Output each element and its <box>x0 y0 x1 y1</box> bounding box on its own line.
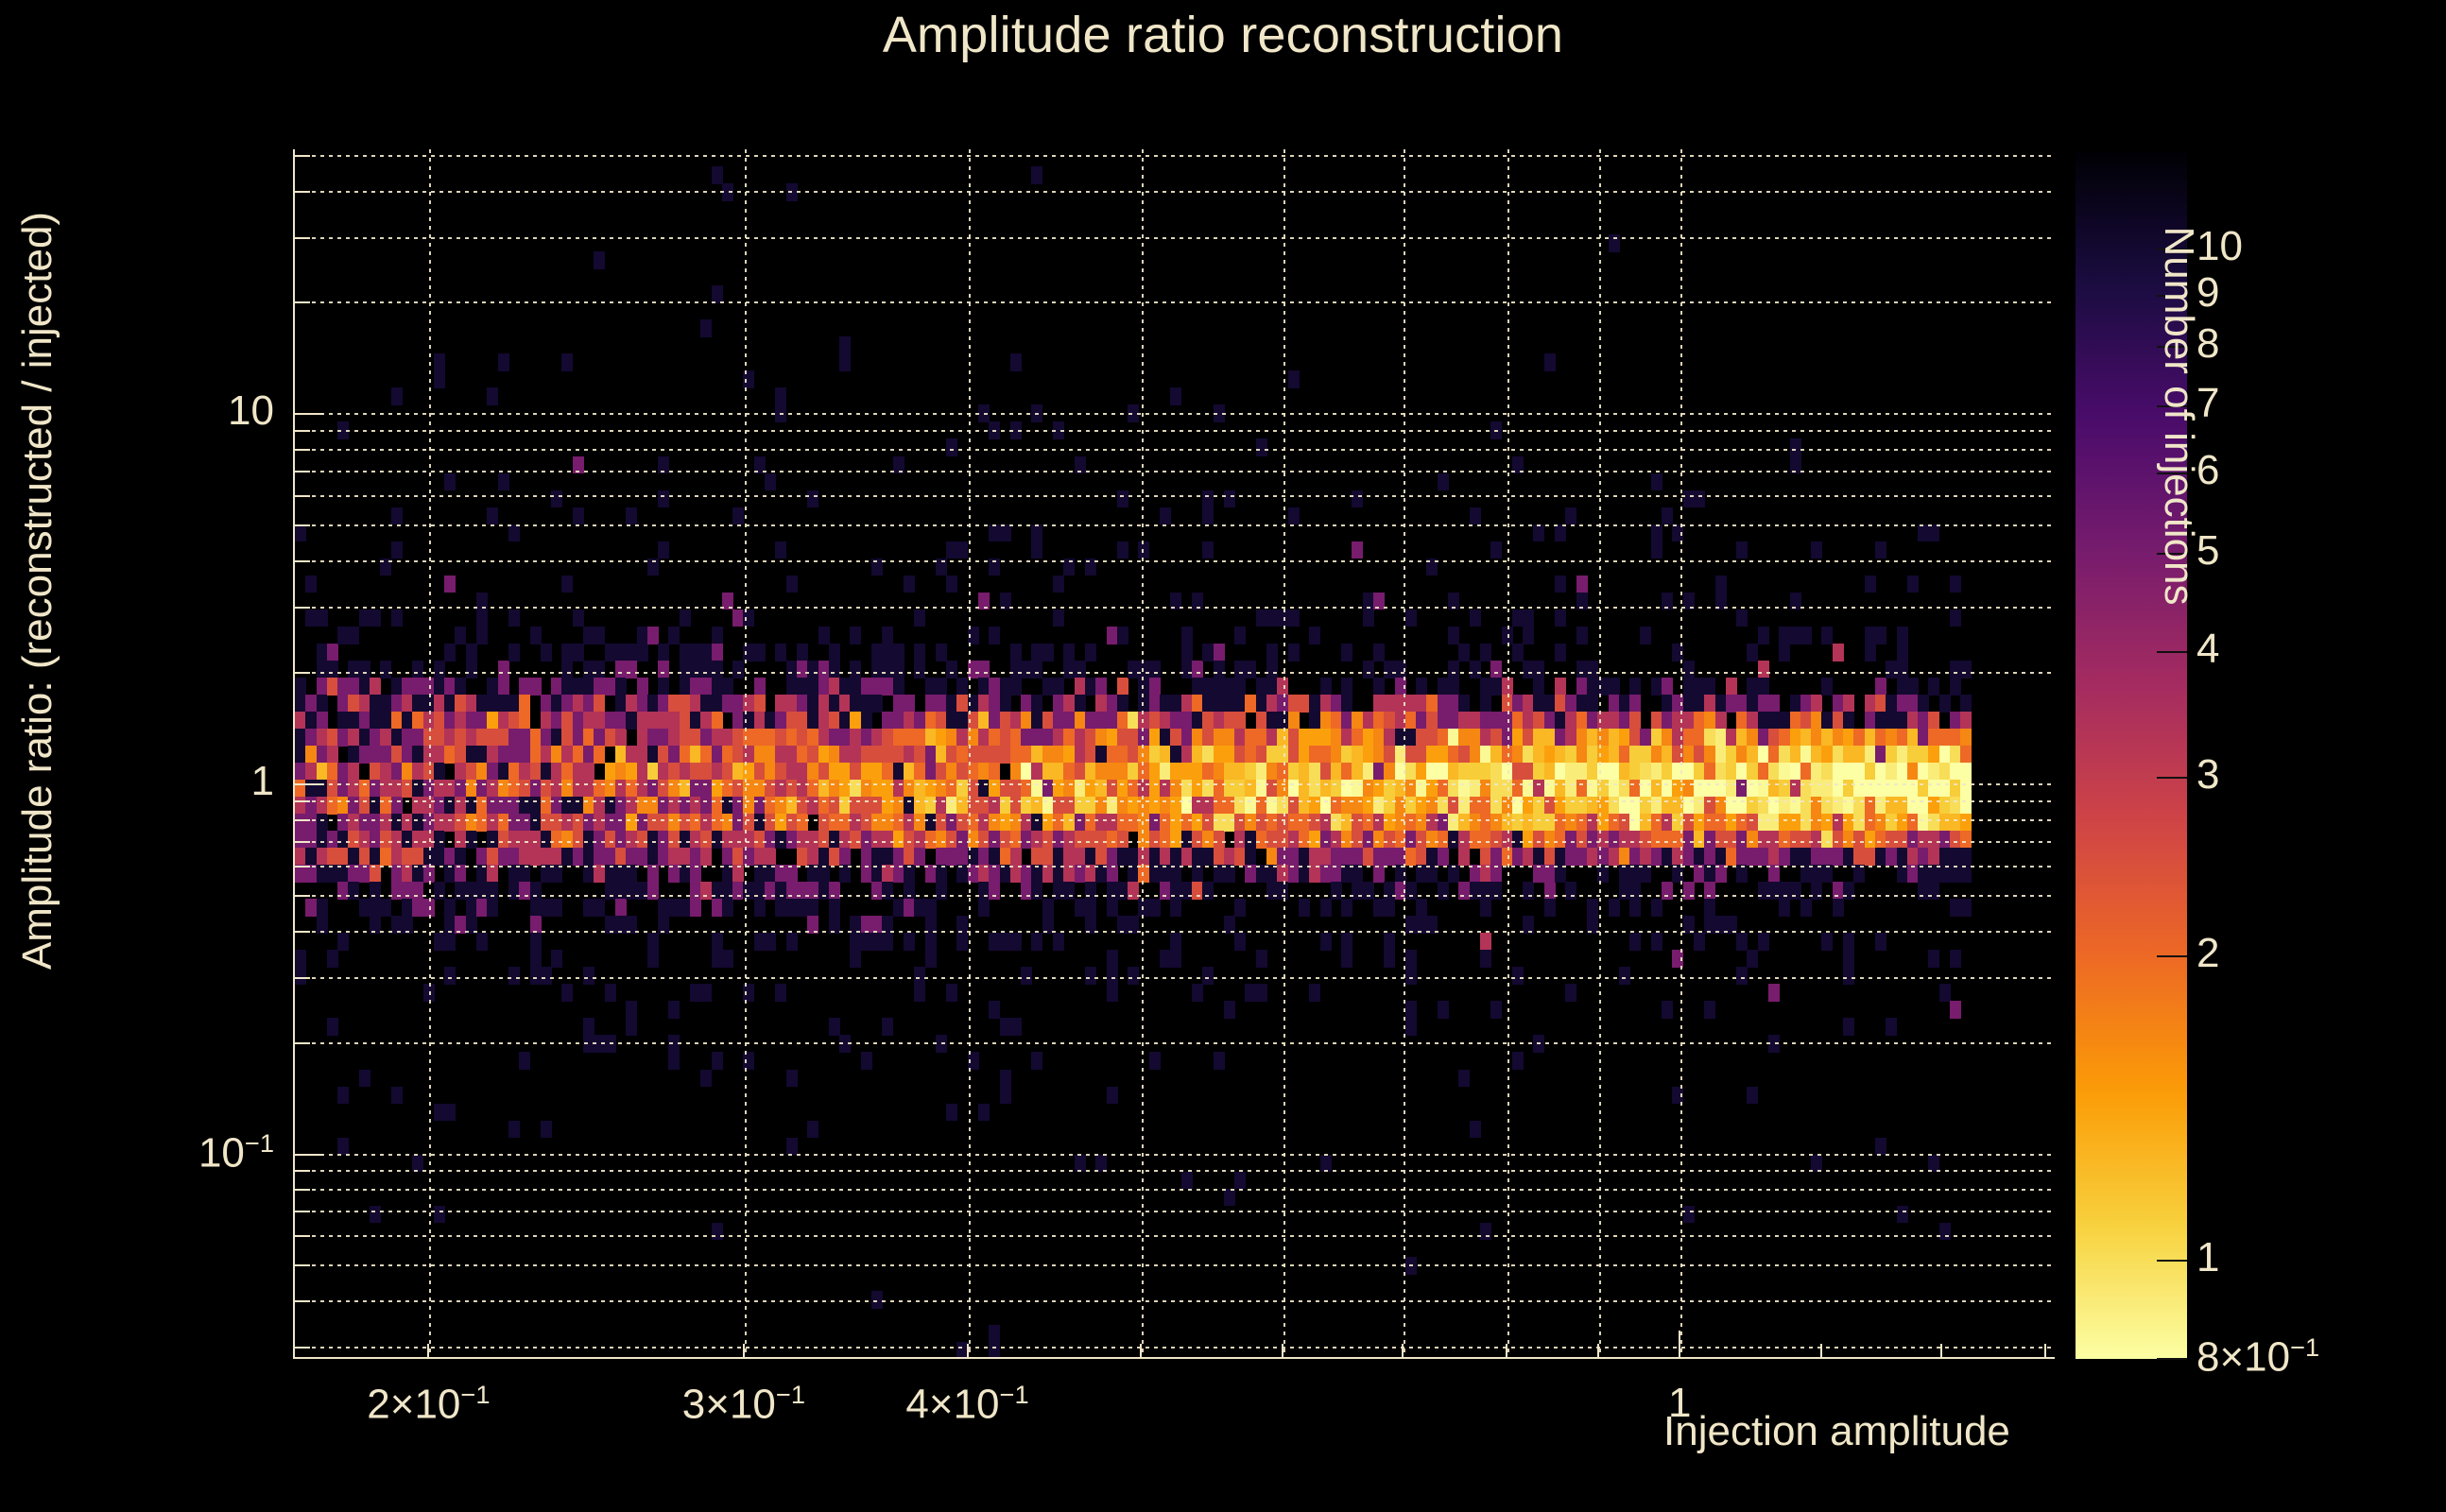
heatmap-cell <box>637 627 648 644</box>
heatmap-cell <box>712 950 723 968</box>
heatmap-cell <box>561 678 573 696</box>
heatmap-cell <box>1544 780 1556 798</box>
heatmap-cell <box>1000 1070 1011 1088</box>
heatmap-cell <box>1192 814 1203 832</box>
heatmap-cell <box>476 780 488 798</box>
heatmap-cell <box>455 678 466 696</box>
heatmap-cell <box>1629 831 1641 849</box>
heatmap-cell <box>615 695 627 713</box>
heatmap-cell <box>647 729 659 747</box>
heatmap-cell <box>690 814 701 832</box>
heatmap-cell <box>380 695 391 713</box>
gridline-vertical <box>1404 149 1405 1359</box>
heatmap-cell <box>775 695 786 713</box>
heatmap-cell <box>914 763 925 781</box>
heatmap-cell <box>1224 814 1235 832</box>
heatmap-cell <box>1587 763 1598 781</box>
heatmap-cell <box>1587 899 1598 917</box>
heatmap-cell <box>1704 712 1715 730</box>
heatmap-cell <box>487 746 498 764</box>
heatmap-cell <box>391 541 403 559</box>
heatmap-cell <box>327 678 338 696</box>
heatmap-cell <box>615 882 627 900</box>
heatmap-cell <box>541 780 552 798</box>
heatmap-cell <box>1907 848 1919 866</box>
heatmap-cell <box>1331 831 1342 849</box>
heatmap-cell <box>1299 763 1310 781</box>
heatmap-cell <box>391 831 403 849</box>
heatmap-cell <box>850 763 861 781</box>
heatmap-cell <box>1715 576 1727 593</box>
heatmap-cell <box>1202 848 1214 866</box>
heatmap-cell <box>1234 814 1246 832</box>
heatmap-cell <box>541 729 552 747</box>
heatmap-cell <box>551 865 562 883</box>
heatmap-cell <box>348 780 359 798</box>
heatmap-cell <box>1202 763 1214 781</box>
heatmap-cell <box>1833 763 1844 781</box>
heatmap-cell <box>1939 984 1951 1002</box>
heatmap-cell <box>1363 661 1374 679</box>
heatmap-cell <box>1299 746 1310 764</box>
heatmap-cell <box>861 865 872 883</box>
heatmap-cell <box>391 729 403 747</box>
heatmap-cell <box>1865 797 1876 815</box>
heatmap-cell <box>797 814 808 832</box>
heatmap-cell <box>1214 695 1225 713</box>
heatmap-cell <box>1800 797 1812 815</box>
heatmap-cell <box>1609 678 1620 696</box>
heatmap-cell <box>1490 831 1502 849</box>
heatmap-cell <box>1063 814 1075 832</box>
heatmap-cell <box>658 661 669 679</box>
heatmap-cell <box>1095 814 1107 832</box>
heatmap-cell <box>700 729 712 747</box>
heatmap-cell <box>722 899 733 917</box>
x-axis-tick <box>1597 1344 1599 1359</box>
heatmap-cell <box>1694 746 1705 764</box>
heatmap-cell <box>946 1104 957 1122</box>
heatmap-cell <box>1576 831 1588 849</box>
heatmap-cell <box>1214 797 1225 815</box>
heatmap-cell <box>1192 882 1203 900</box>
heatmap-cell <box>680 780 691 798</box>
heatmap-cell <box>956 814 968 832</box>
heatmap-cell <box>1853 746 1865 764</box>
heatmap-cell <box>956 780 968 798</box>
heatmap-cell <box>1309 712 1320 730</box>
heatmap-cell <box>1587 848 1598 866</box>
heatmap-cell <box>1426 712 1438 730</box>
heatmap-cell <box>1490 712 1502 730</box>
heatmap-cell <box>732 848 744 866</box>
heatmap-cell <box>1416 831 1427 849</box>
heatmap-cell <box>1095 695 1107 713</box>
heatmap-cell <box>1555 610 1566 627</box>
heatmap-cell <box>317 763 328 781</box>
heatmap-cell <box>637 729 648 747</box>
heatmap-cell <box>1821 865 1833 883</box>
heatmap-cell <box>1939 1223 1951 1241</box>
x-tick-label: 4×10−1 <box>826 1380 1110 1429</box>
heatmap-cell <box>871 831 883 849</box>
heatmap-cell <box>1107 797 1118 815</box>
heatmap-cell <box>1170 933 1181 951</box>
heatmap-cell <box>680 899 691 917</box>
heatmap-cell <box>1341 678 1352 696</box>
heatmap-cell <box>882 729 893 747</box>
heatmap-cell <box>1448 763 1459 781</box>
heatmap-cell <box>1021 695 1032 713</box>
heatmap-cell <box>317 814 328 832</box>
heatmap-cell <box>1341 814 1352 832</box>
heatmap-cell <box>946 780 957 798</box>
heatmap-cell <box>1555 831 1566 849</box>
heatmap-cell <box>1202 678 1214 696</box>
heatmap-cell <box>1833 644 1844 661</box>
heatmap-cell <box>1352 814 1363 832</box>
heatmap-cell <box>1299 865 1310 883</box>
heatmap-cell <box>861 797 872 815</box>
heatmap-cell <box>1651 814 1662 832</box>
heatmap-cell <box>1758 763 1769 781</box>
heatmap-cell <box>541 865 552 883</box>
heatmap-cell <box>402 712 413 730</box>
heatmap-cell <box>1853 780 1865 798</box>
heatmap-cell <box>1021 746 1032 764</box>
heatmap-cell <box>925 797 937 815</box>
heatmap-cell <box>1704 882 1715 900</box>
heatmap-cell <box>1960 712 1972 730</box>
heatmap-cell <box>551 746 562 764</box>
heatmap-cell <box>1811 831 1822 849</box>
heatmap-cell <box>1075 814 1086 832</box>
heatmap-cell <box>498 831 509 849</box>
heatmap-cell <box>1384 712 1395 730</box>
heatmap-cell <box>1683 780 1695 798</box>
y-axis-tick <box>293 524 310 526</box>
heatmap-cell <box>412 882 423 900</box>
heatmap-cell <box>391 746 403 764</box>
heatmap-cell <box>615 763 627 781</box>
heatmap-cell <box>1214 678 1225 696</box>
heatmap-cell <box>1031 763 1042 781</box>
heatmap-cell <box>775 882 786 900</box>
heatmap-cell <box>498 780 509 798</box>
heatmap-cell <box>1266 644 1278 661</box>
heatmap-cell <box>1363 831 1374 849</box>
heatmap-cell <box>1405 729 1417 747</box>
heatmap-cell <box>1565 729 1576 747</box>
heatmap-cell <box>1214 865 1225 883</box>
heatmap-cell <box>1544 848 1556 866</box>
heatmap-cell <box>1149 695 1161 713</box>
heatmap-cell <box>626 797 637 815</box>
heatmap-cell <box>1224 729 1235 747</box>
heatmap-cell <box>1875 695 1886 713</box>
heatmap-cell <box>1107 814 1118 832</box>
heatmap-cell <box>626 644 637 661</box>
heatmap-cell <box>712 627 723 644</box>
heatmap-cell <box>1095 780 1107 798</box>
heatmap-cell <box>1694 797 1705 815</box>
heatmap-cell <box>1438 729 1449 747</box>
heatmap-cell <box>1555 695 1566 713</box>
heatmap-cell <box>712 712 723 730</box>
heatmap-cell <box>1865 576 1876 593</box>
heatmap-cell <box>1214 712 1225 730</box>
heatmap-cell <box>893 763 904 781</box>
heatmap-cell <box>700 1070 712 1088</box>
heatmap-cell <box>1438 695 1449 713</box>
heatmap-cell <box>871 933 883 951</box>
heatmap-cell <box>1266 729 1278 747</box>
heatmap-cell <box>1512 644 1524 661</box>
y-tick-label: 10 <box>57 387 274 435</box>
heatmap-cell <box>466 695 477 713</box>
heatmap-cell <box>1373 831 1385 849</box>
heatmap-cell <box>807 712 818 730</box>
heatmap-cell <box>1352 490 1363 508</box>
heatmap-cell <box>1875 848 1886 866</box>
heatmap-cell <box>1843 1018 1854 1036</box>
heatmap-cell <box>1010 1018 1022 1036</box>
heatmap-cell <box>1907 695 1919 713</box>
heatmap-cell <box>1918 524 1929 542</box>
heatmap-cell <box>1149 814 1161 832</box>
heatmap-cell <box>1245 848 1256 866</box>
heatmap-cell <box>700 319 712 337</box>
heatmap-cell <box>1907 780 1919 798</box>
heatmap-cell <box>615 780 627 798</box>
heatmap-cell <box>1138 831 1149 849</box>
heatmap-cell <box>583 763 594 781</box>
heatmap-cell <box>1063 882 1075 900</box>
heatmap-cell <box>583 814 594 832</box>
heatmap-cell <box>605 712 616 730</box>
heatmap-cell <box>1031 814 1042 832</box>
heatmap-cell <box>1651 678 1662 696</box>
heatmap-cell <box>893 712 904 730</box>
heatmap-cell <box>573 814 584 832</box>
heatmap-cell <box>700 712 712 730</box>
heatmap-cell <box>1960 746 1972 764</box>
heatmap-cell <box>487 763 498 781</box>
heatmap-cell <box>391 507 403 525</box>
heatmap-cell <box>946 695 957 713</box>
heatmap-cell <box>1736 695 1748 713</box>
heatmap-cell <box>1555 746 1566 764</box>
heatmap-cell <box>1363 729 1374 747</box>
heatmap-cell <box>337 797 349 815</box>
heatmap-cell <box>722 831 733 849</box>
heatmap-cell <box>1587 712 1598 730</box>
heatmap-cell <box>317 831 328 849</box>
heatmap-cell <box>690 661 701 679</box>
heatmap-cell <box>786 780 798 798</box>
gridline-vertical <box>745 149 747 1359</box>
heatmap-cell <box>1865 627 1876 644</box>
heatmap-cell <box>1214 1052 1225 1070</box>
heatmap-cell <box>1341 712 1352 730</box>
heatmap-cell <box>1480 831 1491 849</box>
heatmap-cell <box>337 695 349 713</box>
heatmap-cell <box>893 899 904 917</box>
heatmap-cell <box>732 814 744 832</box>
heatmap-cell <box>658 678 669 696</box>
heatmap-cell <box>1779 746 1790 764</box>
heatmap-cell <box>1565 848 1576 866</box>
heatmap-cell <box>690 797 701 815</box>
heatmap-cell <box>1523 627 1534 644</box>
heatmap-cell <box>786 814 798 832</box>
heatmap-cell <box>925 933 937 951</box>
heatmap-cell <box>1384 831 1395 849</box>
heatmap-cell <box>1555 763 1566 781</box>
heatmap-cell <box>1886 848 1897 866</box>
heatmap-cell <box>1416 763 1427 781</box>
heatmap-cell <box>1704 678 1715 696</box>
heatmap-cell <box>1758 848 1769 866</box>
heatmap-cell <box>1565 507 1576 525</box>
heatmap-cell <box>839 353 851 371</box>
heatmap-cell <box>1309 746 1320 764</box>
heatmap-cell <box>732 797 744 815</box>
heatmap-cell <box>1555 797 1566 815</box>
heatmap-cell <box>337 780 349 798</box>
heatmap-cell <box>1640 763 1651 781</box>
heatmap-cell <box>893 729 904 747</box>
heatmap-cell <box>615 899 627 917</box>
heatmap-cell <box>1662 763 1673 781</box>
heatmap-cell <box>1138 729 1149 747</box>
heatmap-cell <box>455 831 466 849</box>
heatmap-cell <box>615 746 627 764</box>
heatmap-cell <box>797 848 808 866</box>
heatmap-cell <box>818 865 830 883</box>
heatmap-cell <box>498 848 509 866</box>
heatmap-cell <box>476 627 488 644</box>
heatmap-cell <box>658 695 669 713</box>
heatmap-cell <box>1470 882 1481 900</box>
heatmap-cell <box>1651 746 1662 764</box>
heatmap-cell <box>1609 831 1620 849</box>
heatmap-cell <box>626 814 637 832</box>
heatmap-cell <box>978 797 990 815</box>
heatmap-cell <box>370 610 381 627</box>
heatmap-cell <box>402 729 413 747</box>
heatmap-cell <box>605 780 616 798</box>
heatmap-cell <box>647 865 659 883</box>
heatmap-cell <box>1331 848 1342 866</box>
heatmap-cell <box>1202 507 1214 525</box>
heatmap-cell <box>989 729 1000 747</box>
heatmap-cell <box>1640 780 1651 798</box>
heatmap-cell <box>1053 712 1064 730</box>
heatmap-cell <box>1031 848 1042 866</box>
heatmap-cell <box>1512 797 1524 815</box>
heatmap-cell <box>775 746 786 764</box>
heatmap-cell <box>434 814 445 832</box>
heatmap-cell <box>1640 814 1651 832</box>
heatmap-cell <box>1821 780 1833 798</box>
heatmap-cell <box>978 678 990 696</box>
heatmap-cell <box>818 848 830 866</box>
heatmap-cell <box>1245 984 1256 1002</box>
heatmap-cell <box>1042 746 1054 764</box>
heatmap-cell <box>1897 865 1908 883</box>
heatmap-cell <box>1373 729 1385 747</box>
heatmap-cell <box>904 814 915 832</box>
heatmap-cell <box>487 865 498 883</box>
heatmap-cell <box>1010 729 1022 747</box>
heatmap-cell <box>1907 746 1919 764</box>
heatmap-cell <box>1470 507 1481 525</box>
heatmap-cell <box>1939 848 1951 866</box>
heatmap-cell <box>956 831 968 849</box>
heatmap-cell <box>1960 661 1972 679</box>
heatmap-cell <box>626 695 637 713</box>
heatmap-cell <box>1726 763 1737 781</box>
heatmap-cell <box>1576 576 1588 593</box>
heatmap-cell <box>327 746 338 764</box>
heatmap-cell <box>1587 797 1598 815</box>
heatmap-cell <box>530 882 542 900</box>
heatmap-cell <box>668 899 680 917</box>
colorbar-title: Number of injections <box>2155 113 2202 718</box>
x-axis-title: Injection amplitude <box>1663 1408 2010 1455</box>
heatmap-cell <box>1288 780 1300 798</box>
heatmap-cell <box>1256 610 1267 627</box>
heatmap-cell <box>380 661 391 679</box>
heatmap-cell <box>732 746 744 764</box>
heatmap-cell <box>1694 729 1705 747</box>
plot-frame <box>293 149 2055 1359</box>
heatmap-cell <box>412 678 423 696</box>
heatmap-cell <box>1704 695 1715 713</box>
heatmap-cell <box>605 797 616 815</box>
heatmap-cell <box>615 865 627 883</box>
heatmap-cell <box>370 848 381 866</box>
heatmap-cell <box>829 746 840 764</box>
heatmap-cell <box>765 780 776 798</box>
heatmap-cell <box>605 1035 616 1053</box>
heatmap-cell <box>1779 729 1790 747</box>
heatmap-cell <box>327 865 338 883</box>
heatmap-cell <box>1619 882 1630 900</box>
heatmap-cell <box>1085 814 1096 832</box>
heatmap-cell <box>1651 797 1662 815</box>
heatmap-cell <box>1234 678 1246 696</box>
heatmap-cell <box>519 695 530 713</box>
heatmap-cell <box>305 899 317 917</box>
heatmap-cell <box>1907 678 1919 696</box>
heatmap-cell <box>989 831 1000 849</box>
heatmap-cell <box>295 524 306 542</box>
heatmap-cell <box>476 610 488 627</box>
y-axis-tick <box>293 607 310 609</box>
heatmap-cell <box>690 848 701 866</box>
heatmap-cell <box>1950 1001 1961 1019</box>
heatmap-cell <box>317 729 328 747</box>
heatmap-cell <box>327 763 338 781</box>
heatmap-cell <box>1021 865 1032 883</box>
heatmap-cell <box>637 797 648 815</box>
heatmap-cell <box>1085 746 1096 764</box>
heatmap-cell <box>893 865 904 883</box>
heatmap-cell <box>1800 899 1812 917</box>
heatmap-cell <box>754 831 766 849</box>
